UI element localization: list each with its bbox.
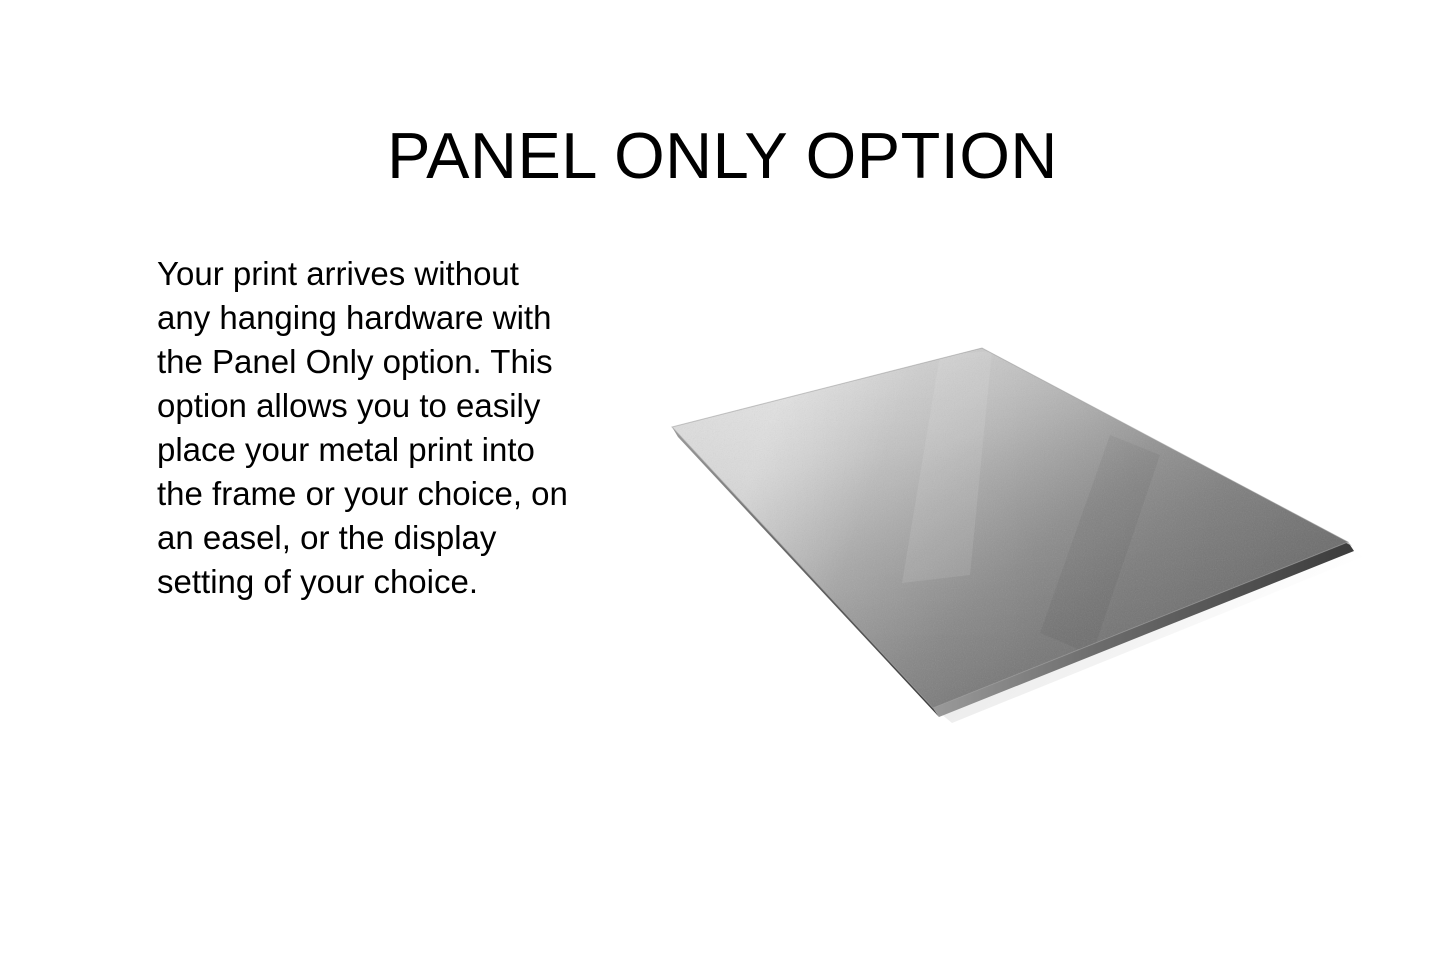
page-title: PANEL ONLY OPTION (0, 122, 1445, 190)
panel-texture (672, 348, 1348, 708)
metal-panel-illustration (640, 325, 1380, 730)
slide-canvas: PANEL ONLY OPTION Your print arrives wit… (0, 0, 1445, 963)
body-paragraph: Your print arrives without any hanging h… (157, 252, 577, 604)
